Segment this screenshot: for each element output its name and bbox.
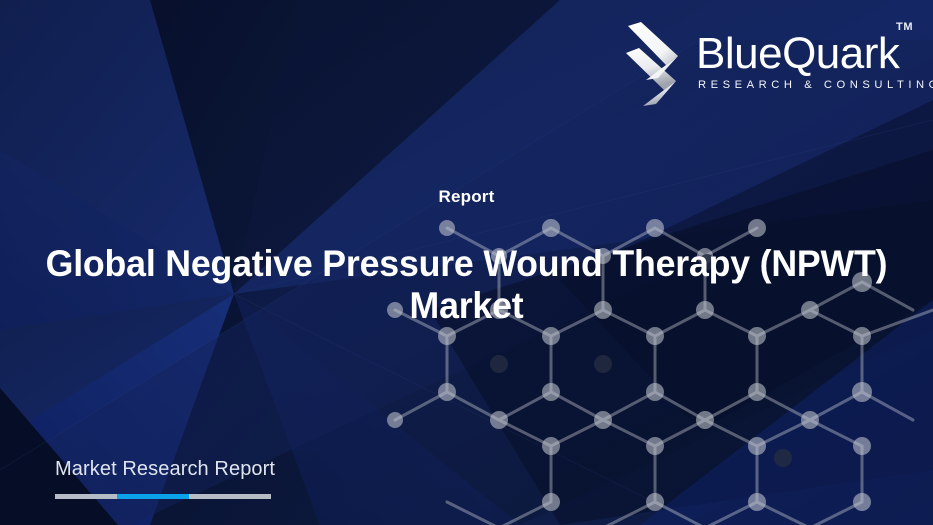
report-kicker: Report bbox=[0, 186, 933, 208]
footer-bar-segment-grey-left bbox=[55, 494, 117, 499]
footer-bar-segment-blue bbox=[117, 494, 189, 499]
trademark-symbol: TM bbox=[896, 21, 913, 33]
logo-tagline: RESEARCH & CONSULTING bbox=[698, 78, 918, 92]
logo-wordmark: BlueQuark bbox=[696, 31, 918, 77]
logo-text: BlueQuark RESEARCH & CONSULTING bbox=[696, 31, 918, 92]
page-title: Global Negative Pressure Wound Therapy (… bbox=[41, 243, 891, 327]
brand-logo[interactable]: BlueQuark RESEARCH & CONSULTING TM bbox=[618, 14, 918, 110]
footer-bar-segment-grey-right bbox=[189, 494, 271, 499]
footer-accent-bar bbox=[55, 494, 271, 499]
footer-label: Market Research Report bbox=[55, 456, 275, 482]
report-cover: BlueQuark RESEARCH & CONSULTING TM Repor… bbox=[0, 0, 933, 525]
bluequark-chevron-mark-icon bbox=[618, 20, 692, 108]
